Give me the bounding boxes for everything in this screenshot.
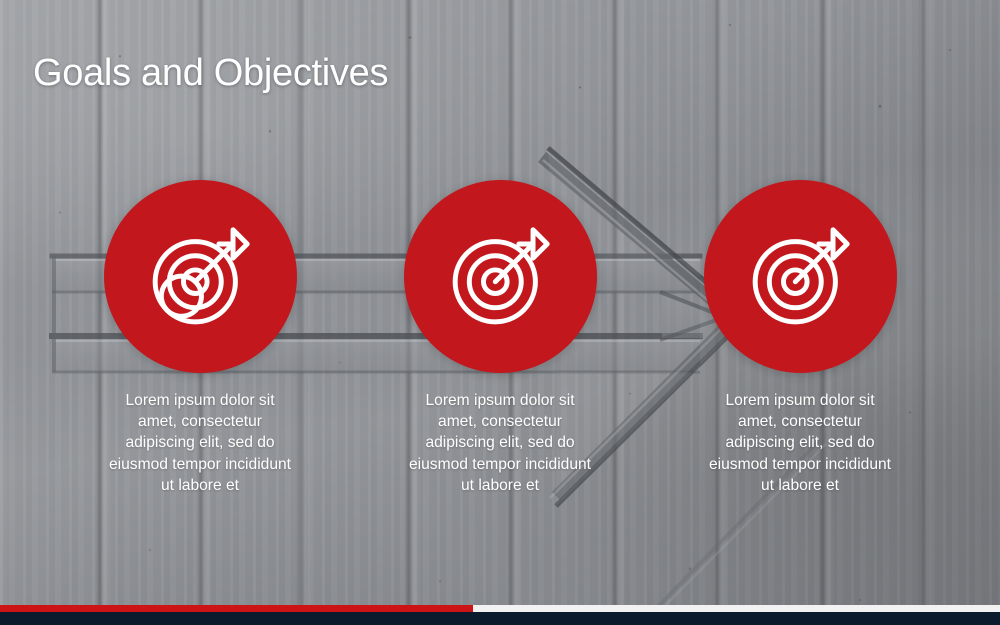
target-arrow-icon — [741, 218, 859, 336]
footer-bar-red — [0, 605, 473, 612]
columns-container: Lorem ipsum dolor sit amet, consectetur … — [0, 180, 1000, 496]
column-3-text: Lorem ipsum dolor sit amet, consectetur … — [705, 390, 895, 496]
footer-bar-navy — [0, 612, 1000, 625]
page-title: Goals and Objectives — [33, 52, 388, 95]
icon-circle-1[interactable] — [104, 180, 297, 373]
column-2-text: Lorem ipsum dolor sit amet, consectetur … — [405, 390, 595, 496]
target-arrow-icon — [441, 218, 559, 336]
icon-circle-2[interactable] — [404, 180, 597, 373]
column-3: Lorem ipsum dolor sit amet, consectetur … — [702, 180, 898, 496]
column-1-text: Lorem ipsum dolor sit amet, consectetur … — [105, 390, 295, 496]
column-1: Lorem ipsum dolor sit amet, consectetur … — [102, 180, 298, 496]
target-arrow-icon — [141, 218, 259, 336]
column-2: Lorem ipsum dolor sit amet, consectetur … — [402, 180, 598, 496]
icon-circle-3[interactable] — [704, 180, 897, 373]
footer-bar-white — [473, 605, 1000, 612]
slide: Goals and Objectives Lorem ipsum dolor s… — [0, 0, 1000, 625]
